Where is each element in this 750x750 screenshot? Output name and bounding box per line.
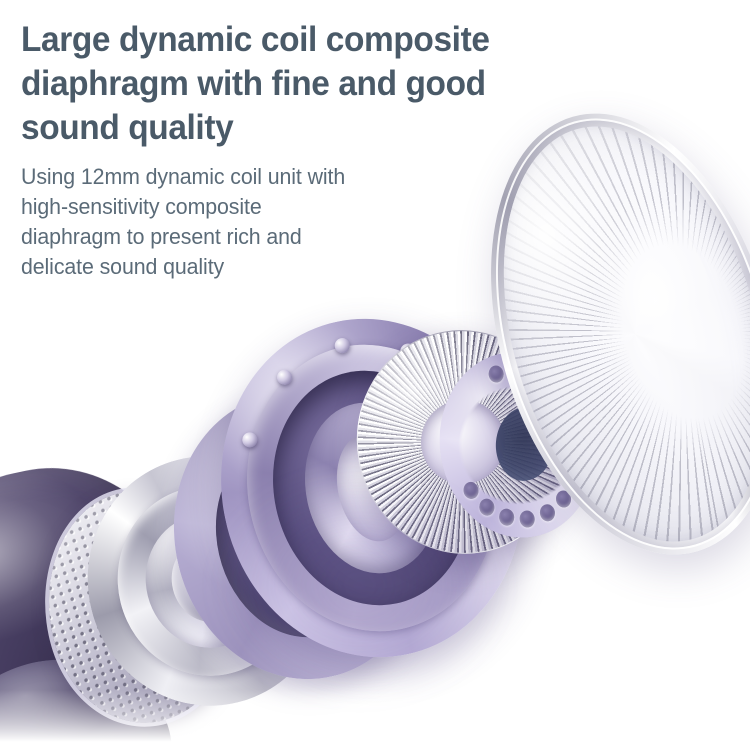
body-description: Using 12mm dynamic coil unit with high-s… xyxy=(21,162,603,282)
copy-block: Large dynamic coil composite diaphragm w… xyxy=(21,18,621,282)
product-feature-banner: Large dynamic coil composite diaphragm w… xyxy=(0,0,750,750)
page-title: Large dynamic coil composite diaphragm w… xyxy=(21,18,594,150)
